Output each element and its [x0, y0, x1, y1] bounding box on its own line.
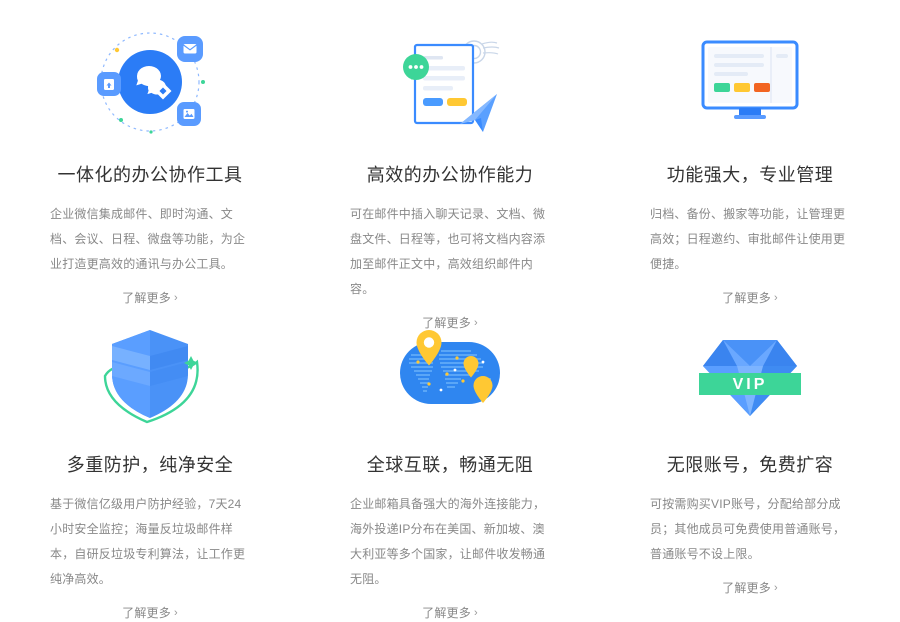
card-title: 功能强大，专业管理 [667, 162, 834, 188]
card-description: 企业微信集成邮件、即时沟通、文档、会议、日程、微盘等功能，为企业打造更高效的通讯… [50, 202, 250, 277]
card-description: 可按需购买VIP账号，分配给部分成员；其他成员可免费使用普通账号，普通账号不设上… [650, 492, 850, 567]
chevron-right-icon: › [174, 608, 178, 619]
feature-card-security: 多重防护，纯净安全 基于微信亿级用户防护经验，7天24小时安全监控；海量反垃圾邮… [0, 304, 300, 594]
feature-card-management: 功能强大，专业管理 归档、备份、搬家等功能，让管理更高效；日程邀约、审批邮件让使… [600, 14, 900, 304]
chat-bubble-orbit-icon [70, 28, 230, 140]
features-grid: 一体化的办公协作工具 企业微信集成邮件、即时沟通、文档、会议、日程、微盘等功能，… [0, 0, 900, 594]
card-description: 可在邮件中插入聊天记录、文档、微盘文件、日程等，也可将文档内容添加至邮件正文中，… [350, 202, 550, 302]
learn-more-link[interactable]: 了解更多 › [422, 604, 478, 622]
learn-more-label: 了解更多 [122, 604, 171, 622]
learn-more-link[interactable]: 了解更多 › [122, 604, 178, 622]
feature-card-global: 全球互联，畅通无阻 企业邮箱具备强大的海外连接能力，海外投递IP分布在美国、新加… [300, 304, 600, 594]
document-send-icon [370, 28, 530, 140]
chevron-right-icon: › [474, 318, 478, 329]
learn-more-label: 了解更多 [422, 604, 471, 622]
card-description: 归档、备份、搬家等功能，让管理更高效；日程邀约、审批邮件让使用更便捷。 [650, 202, 850, 277]
feature-card-collaboration: 高效的办公协作能力 可在邮件中插入聊天记录、文档、微盘文件、日程等，也可将文档内… [300, 14, 600, 304]
card-title: 全球互联，畅通无阻 [367, 452, 534, 478]
card-title: 无限账号，免费扩容 [667, 452, 834, 478]
vip-badge-text: VIP [733, 376, 768, 393]
vip-diamond-icon: VIP [670, 318, 830, 430]
card-description: 企业邮箱具备强大的海外连接能力，海外投递IP分布在美国、新加坡、澳大利亚等多个国… [350, 492, 550, 592]
world-map-pins-icon [370, 318, 530, 430]
learn-more-label: 了解更多 [722, 579, 771, 597]
shield-security-icon [70, 318, 230, 430]
card-title: 多重防护，纯净安全 [67, 452, 234, 478]
desktop-monitor-icon [670, 28, 830, 140]
feature-card-integrated-office: 一体化的办公协作工具 企业微信集成邮件、即时沟通、文档、会议、日程、微盘等功能，… [0, 14, 300, 304]
chevron-right-icon: › [174, 293, 178, 304]
learn-more-link[interactable]: 了解更多 › [722, 579, 778, 597]
chevron-right-icon: › [774, 583, 778, 594]
card-title: 一体化的办公协作工具 [58, 162, 243, 188]
feature-card-vip-accounts: VIP 无限账号，免费扩容 可按需购买VIP账号，分配给部分成员；其他成员可免费… [600, 304, 900, 594]
chevron-right-icon: › [774, 293, 778, 304]
chevron-right-icon: › [474, 608, 478, 619]
card-description: 基于微信亿级用户防护经验，7天24小时安全监控；海量反垃圾邮件样本，自研反垃圾专… [50, 492, 250, 592]
card-title: 高效的办公协作能力 [367, 162, 534, 188]
